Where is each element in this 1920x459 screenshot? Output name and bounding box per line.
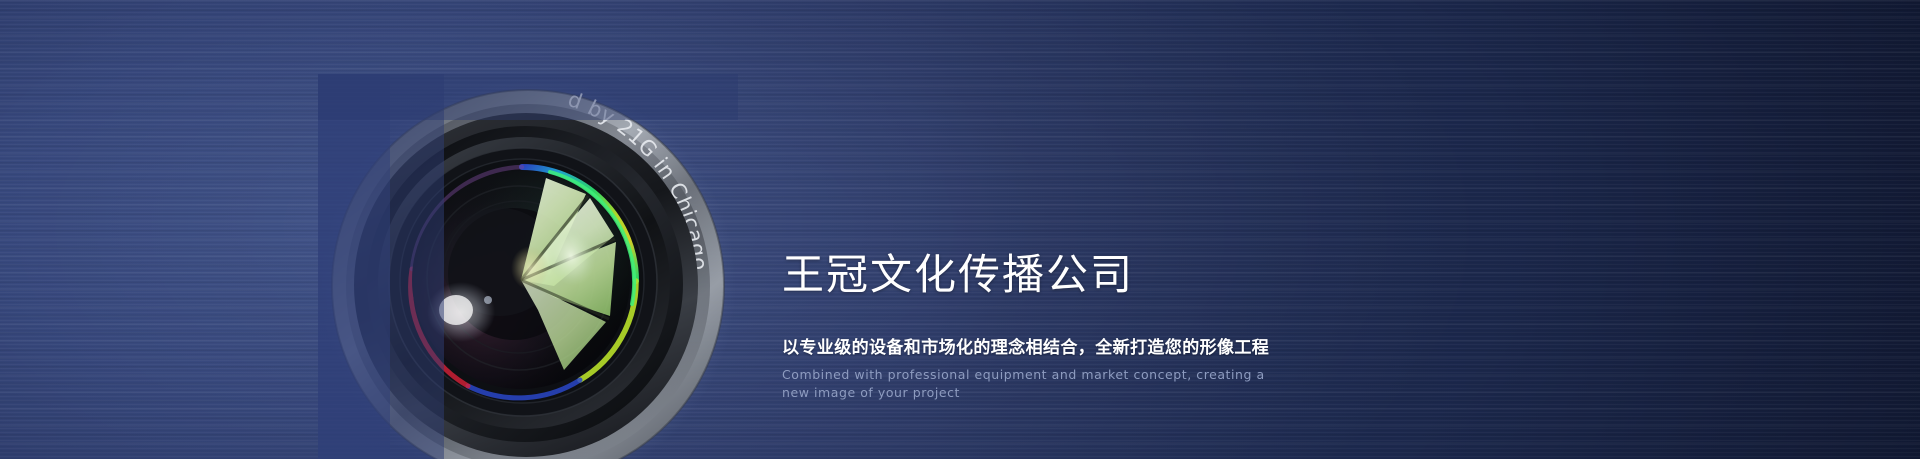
slogan-chinese: 以专业级的设备和市场化的理念相结合，全新打造您的形像工程	[782, 297, 1482, 358]
hero-text-block: 王冠文化传播公司 以专业级的设备和市场化的理念相结合，全新打造您的形像工程 Co…	[782, 252, 1482, 402]
camera-lens-illustration: d by 21G in Chicago	[318, 74, 738, 459]
hero-banner: d by 21G in Chicago	[0, 0, 1920, 459]
lens-left-fade	[318, 74, 444, 459]
slogan-english: Combined with professional equipment and…	[782, 358, 1270, 402]
page-title: 王冠文化传播公司	[782, 252, 1482, 297]
lens-top-fade	[318, 74, 738, 120]
